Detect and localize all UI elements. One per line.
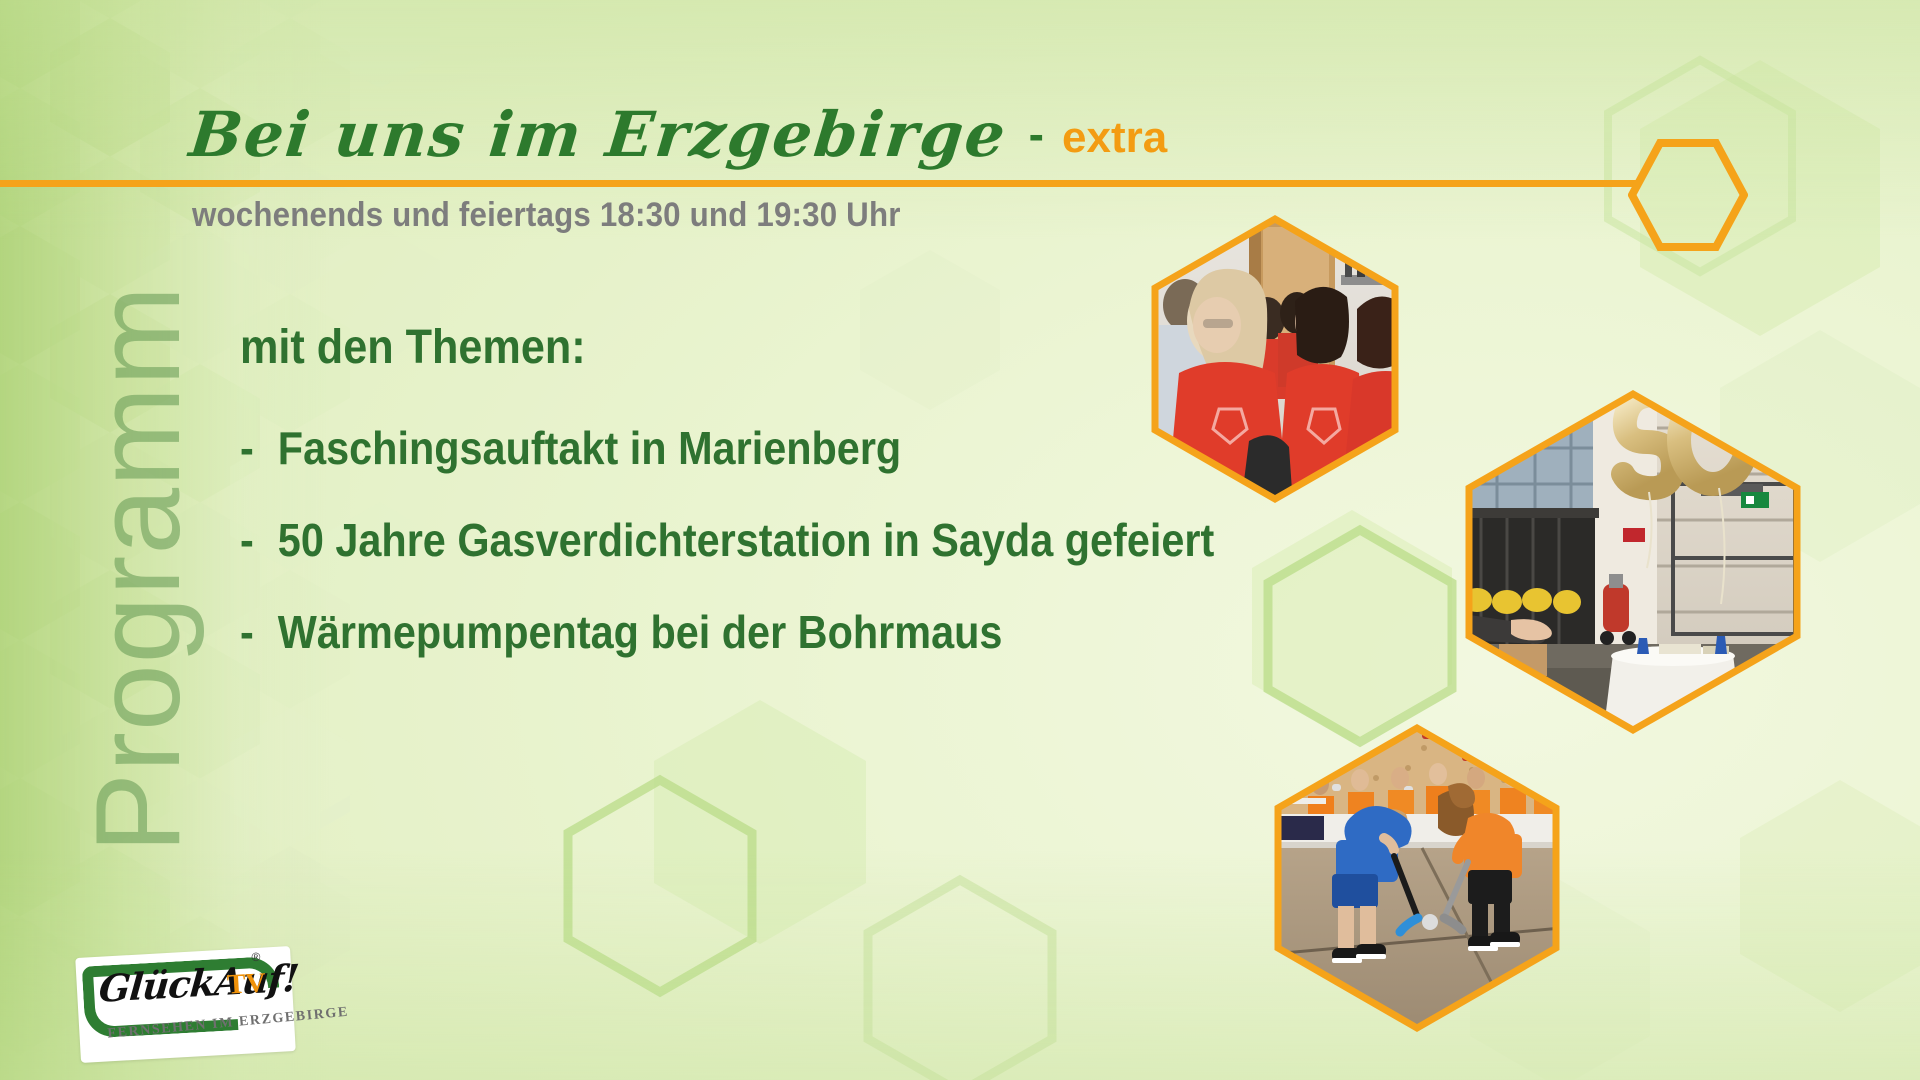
topic-item: - Faschingsauftakt in Marienberg <box>240 421 1194 475</box>
header-divider-line <box>0 180 1640 187</box>
bullet-marker: - <box>240 421 278 475</box>
header: Bei uns im Erzgebirge - extra wochenends… <box>0 0 1920 250</box>
topics-heading: mit den Themen: <box>240 320 1194 375</box>
registered-trademark-icon: ® <box>251 950 261 964</box>
bullet-marker: - <box>240 513 278 567</box>
topic-item: - 50 Jahre Gasverdichterstation in Sayda… <box>240 513 1194 567</box>
show-title-extra: extra <box>1062 116 1167 160</box>
broadcast-slide: Bei uns im Erzgebirge - extra wochenends… <box>0 0 1920 1080</box>
topic-label: Faschingsauftakt in Marienberg <box>278 421 901 475</box>
bullet-marker: - <box>240 605 278 659</box>
show-title: Bei uns im Erzgebirge - extra <box>190 104 1167 166</box>
topic-label: Wärmepumpentag bei der Bohrmaus <box>278 605 1003 659</box>
logo-tv-text: TV <box>226 970 266 1000</box>
glueckauf-tv-logo: GlückAuf! TV ® FERNSEHEN IM ERZGEBIRGE <box>75 946 296 1063</box>
photo-faschingsauftakt <box>1145 213 1405 505</box>
show-title-script: Bei uns im Erzgebirge <box>187 104 1010 166</box>
logo-wordmark: GlückAuf! <box>97 960 299 1008</box>
hexagon-outline-icon <box>1628 139 1748 256</box>
photo-gasverdichterstation <box>1463 388 1803 736</box>
topic-label: 50 Jahre Gasverdichterstation in Sayda g… <box>278 513 1215 567</box>
show-title-dash: - <box>1029 111 1044 157</box>
broadcast-times: wochenends und feiertags 18:30 und 19:30… <box>192 196 901 235</box>
photo-floorball <box>1272 722 1562 1034</box>
topic-item: - Wärmepumpentag bei der Bohrmaus <box>240 605 1194 659</box>
main-content: mit den Themen: - Faschingsauftakt in Ma… <box>240 320 1300 697</box>
